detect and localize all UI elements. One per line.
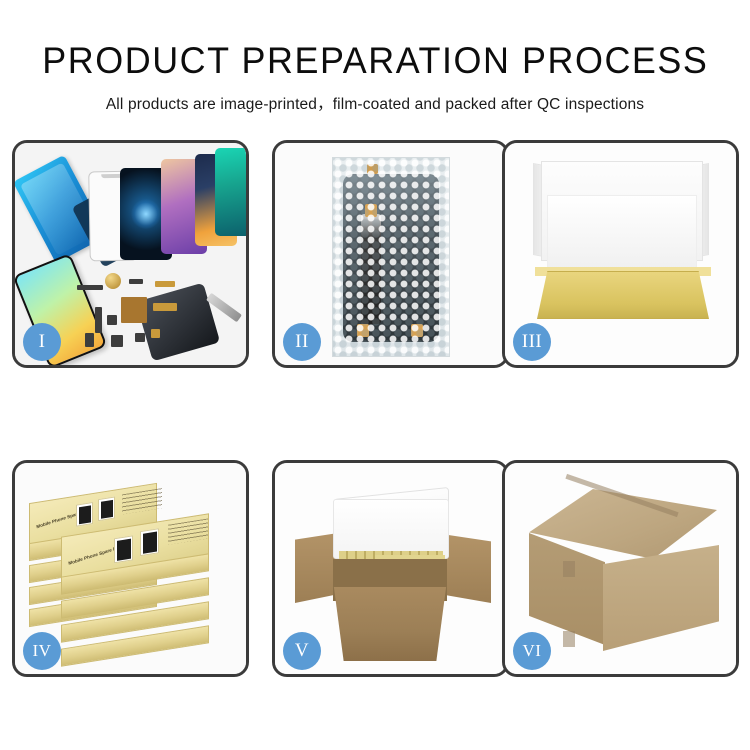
screw-set-icon (151, 329, 160, 338)
box-print-lines (122, 488, 162, 514)
step-badge-2: II (283, 323, 321, 361)
step-panel-3[interactable]: III (502, 140, 739, 368)
gold-flex-icon (155, 281, 175, 287)
step-panel-5[interactable]: V (272, 460, 509, 677)
step-panel-6[interactable]: VI (502, 460, 739, 677)
box-print-lines (168, 518, 208, 544)
bubble-texture (333, 158, 449, 356)
button-icon (135, 333, 145, 342)
step-badge-6: VI (513, 632, 551, 670)
carton-right-face (603, 545, 719, 651)
step-badge-1: I (23, 323, 61, 361)
step-badge-5: V (283, 632, 321, 670)
antenna-icon (129, 279, 143, 284)
camera-module-icon (107, 315, 117, 325)
yellow-box-body (537, 271, 709, 319)
vibrator-icon (111, 335, 123, 347)
carton-tape-tab-upper (563, 561, 575, 577)
carton-left-face (529, 533, 605, 645)
product-preparation-process-page: PRODUCT PREPARATION PROCESS All products… (0, 0, 750, 750)
page-subtitle: All products are image-printed，film-coat… (106, 92, 644, 114)
step-badge-3: III (513, 323, 551, 361)
teal-phone-icon (215, 148, 249, 236)
flex-cable-icon (95, 307, 102, 333)
chip-board-icon (121, 297, 147, 323)
step-panel-2[interactable]: II (272, 140, 509, 368)
box-window-b (98, 497, 115, 522)
box-window-a (114, 535, 133, 563)
carton-body (329, 587, 451, 661)
box-window-a (76, 502, 93, 527)
connector-icon (153, 303, 177, 311)
part-strip-icon (77, 285, 103, 290)
page-title: PRODUCT PREPARATION PROCESS (42, 42, 708, 79)
bubble-wrap-bag (332, 157, 450, 357)
process-steps-grid: I II (12, 140, 739, 677)
step-panel-4[interactable]: Mobile Phone Spare Parts Mobile Phone Sp… (12, 460, 249, 677)
step-badge-4: IV (23, 632, 61, 670)
box-window-b (140, 528, 159, 556)
sim-tray-icon (85, 333, 94, 347)
foam-box (333, 499, 449, 559)
step-panel-1[interactable]: I (12, 140, 249, 368)
page-header: PRODUCT PREPARATION PROCESS All products… (0, 0, 750, 120)
foam-sheet (547, 195, 697, 271)
small-parts-group (77, 271, 197, 357)
carton-tape-tab-lower (563, 631, 575, 647)
